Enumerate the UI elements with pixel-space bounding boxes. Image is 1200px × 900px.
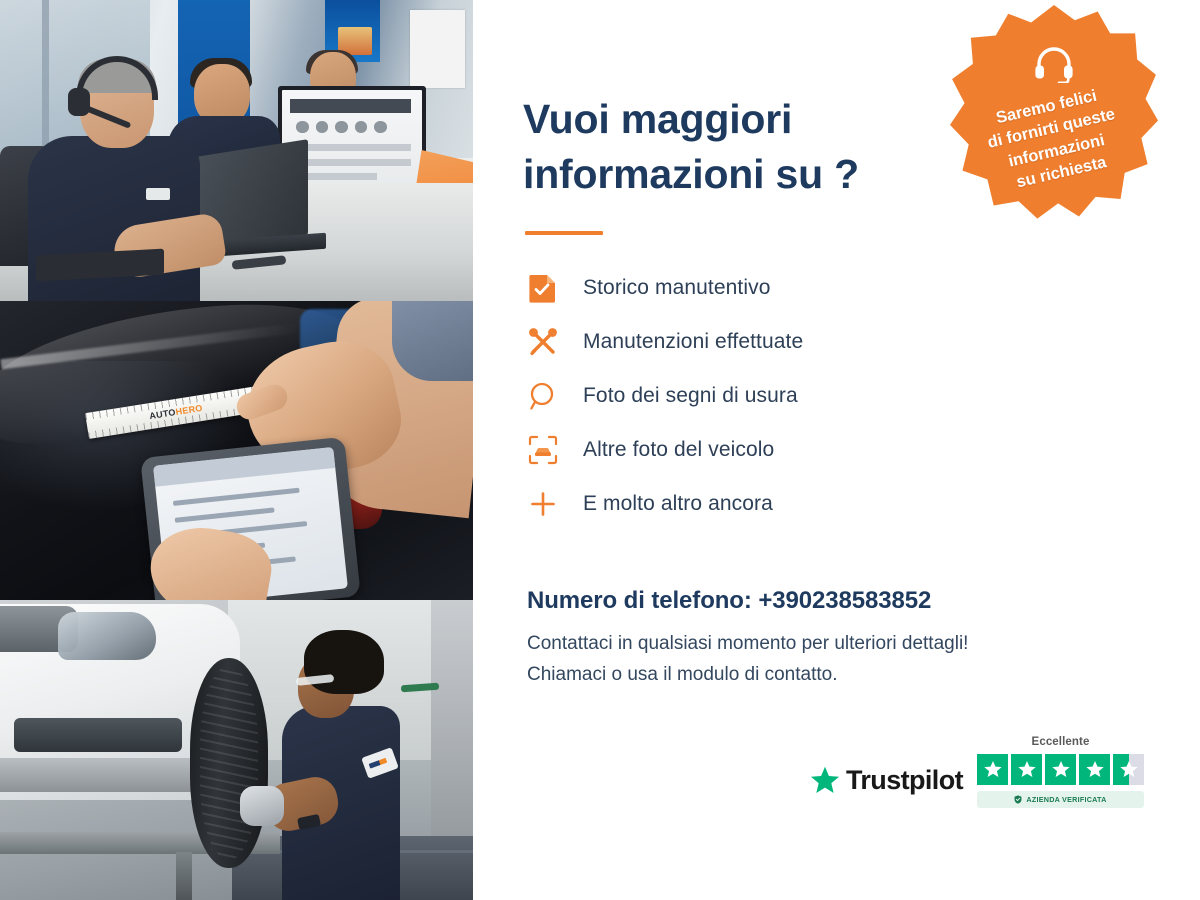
contact-copy: Contattaci in qualsiasi momento per ulte… <box>527 629 1140 691</box>
feature-item-more-vehicle-photos: Altre foto del veicolo <box>527 423 1140 477</box>
contact-block: Numero di telefono: +390238583852 Contat… <box>527 587 1140 691</box>
trustpilot-rating: Eccellente <box>977 752 1144 808</box>
call-center-agents-photo <box>0 0 473 301</box>
tools-cross-icon <box>527 326 559 358</box>
verified-business-badge: AZIENDA VERIFICATA <box>977 791 1144 808</box>
mechanic-wheel-photo <box>0 600 473 900</box>
shield-check-icon <box>1014 795 1022 804</box>
feature-label: Foto dei segni di usura <box>583 384 798 408</box>
feature-label: Altre foto del veicolo <box>583 438 774 462</box>
feature-item-wear-photos: Foto dei segni di usura <box>527 369 1140 423</box>
feature-item-more: E molto altro ancora <box>527 477 1140 531</box>
verified-business-text: AZIENDA VERIFICATA <box>1026 795 1106 804</box>
orange-divider <box>525 231 603 235</box>
call-center-scene <box>0 0 473 301</box>
headline-line-2: informazioni su ? <box>523 147 953 202</box>
car-inspection-scene: AUTOHERO <box>0 301 473 600</box>
callout-badge: Saremo felici di fornirti queste informa… <box>950 5 1158 223</box>
headline-line-1: Vuoi maggiori <box>523 92 953 147</box>
document-check-icon <box>527 272 559 304</box>
star-half <box>1113 754 1144 785</box>
car-scan-icon <box>527 434 559 466</box>
feature-list: Storico manutentivo Manutenzioni effettu… <box>527 261 1140 531</box>
headset-icon <box>1032 43 1076 83</box>
car-inspection-ruler-photo: AUTOHERO <box>0 301 473 600</box>
promo-banner: AUTOHERO <box>0 0 1200 900</box>
contact-copy-line-1: Contattaci in qualsiasi momento per ulte… <box>527 629 1140 660</box>
mechanic-wheel-scene <box>0 600 473 900</box>
page-title: Vuoi maggiori informazioni su ? <box>523 92 953 201</box>
trustpilot-widget[interactable]: Trustpilot Eccellente <box>810 752 1144 808</box>
trustpilot-star-icon <box>810 766 840 795</box>
feature-label: Storico manutentivo <box>583 276 771 300</box>
trustpilot-wordmark: Trustpilot <box>846 765 963 796</box>
contact-copy-line-2: Chiamaci o usa il modulo di contatto. <box>527 660 1140 691</box>
star-filled <box>1079 754 1110 785</box>
trustpilot-rating-label: Eccellente <box>1032 736 1090 748</box>
feature-label: Manutenzioni effettuate <box>583 330 803 354</box>
trustpilot-logo: Trustpilot <box>810 765 963 796</box>
feature-item-maintenance-history: Storico manutentivo <box>527 261 1140 315</box>
star-filled <box>977 754 1008 785</box>
photo-column: AUTOHERO <box>0 0 473 900</box>
star-filled <box>1011 754 1042 785</box>
magnifier-icon <box>527 380 559 412</box>
feature-label: E molto altro ancora <box>583 492 773 516</box>
trustpilot-stars <box>977 754 1144 785</box>
feature-item-services-performed: Manutenzioni effettuate <box>527 315 1140 369</box>
star-filled <box>1045 754 1076 785</box>
phone-number-line[interactable]: Numero di telefono: +390238583852 <box>527 587 1140 615</box>
plus-icon <box>527 488 559 520</box>
